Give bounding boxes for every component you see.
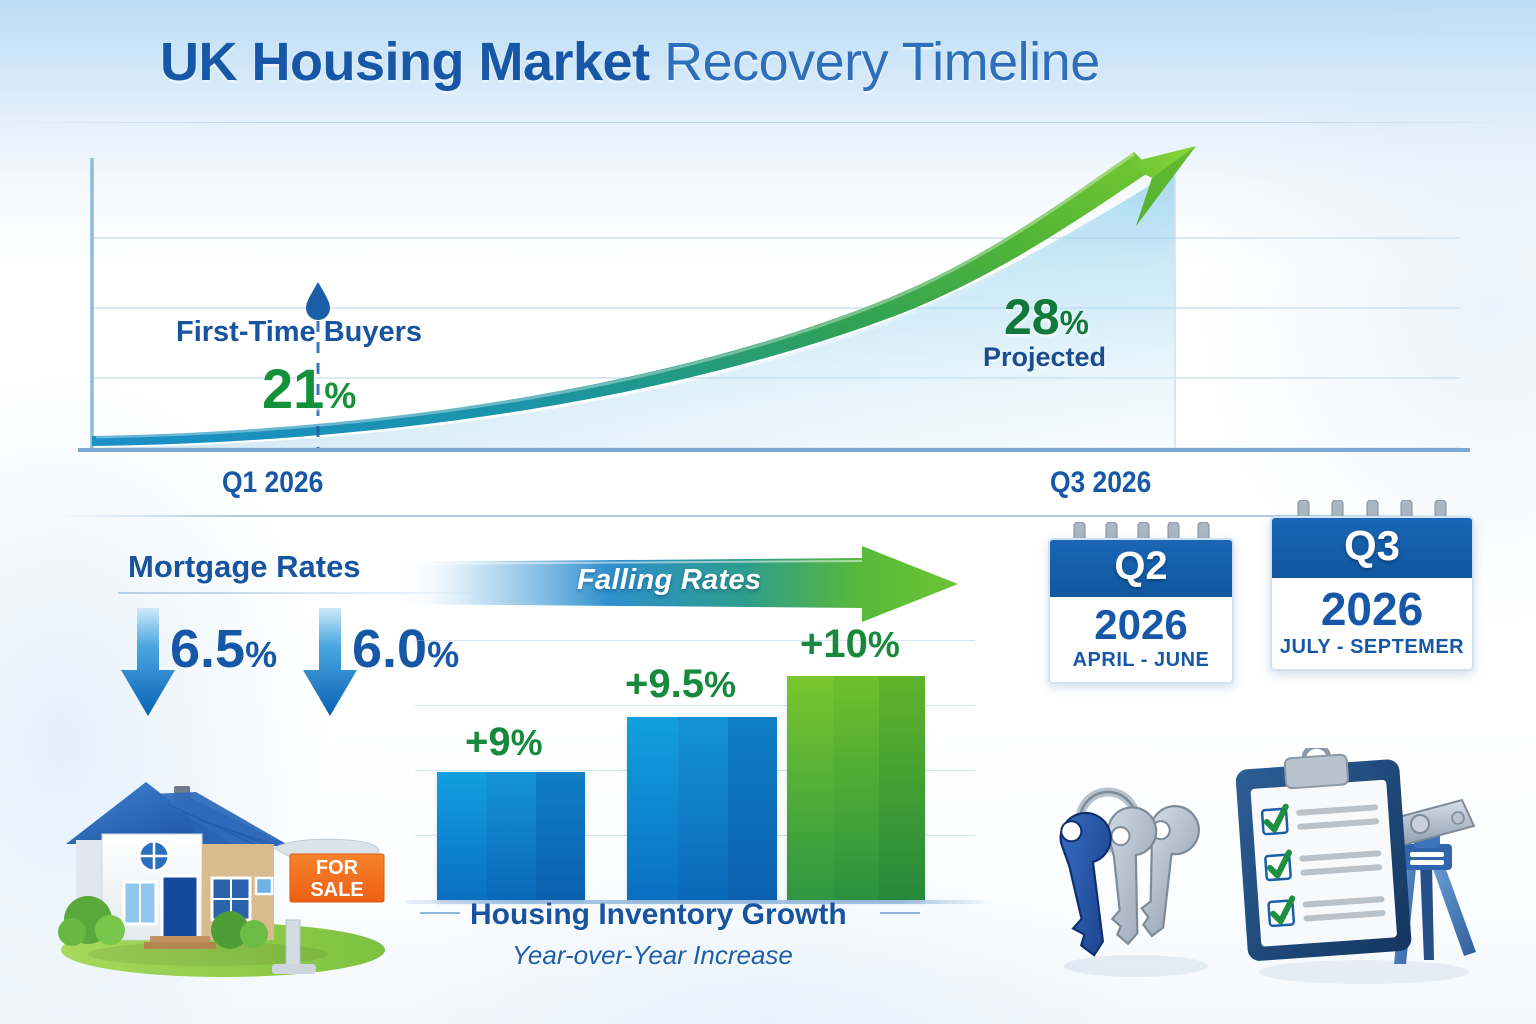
header-divider [0, 122, 1536, 123]
calendar-card-q3: Q3 2026 JULY - SEPTEMER [1270, 516, 1474, 671]
bar-segment [834, 676, 880, 900]
bar-pct-2: % [704, 664, 736, 705]
bar-segment [627, 717, 678, 900]
inventory-title: Housing Inventory Growth [470, 898, 847, 932]
bar-inventory-3 [787, 676, 925, 900]
down-arrow-icon [120, 608, 176, 718]
page-title-bold: UK Housing Market [160, 32, 650, 92]
bar-pct-3: % [868, 624, 900, 665]
house-keys-illustration [1036, 768, 1236, 983]
bar-value-2: +9.5 [625, 662, 704, 706]
mortgage-rate-value-1: 6.5% [170, 618, 277, 680]
calendar-months-q2: APRIL - JUNE [1050, 649, 1232, 682]
infographic-canvas: UK Housing Market Recovery Timeline [0, 0, 1536, 1024]
mortgage-rates-title: Mortgage Rates [128, 549, 361, 585]
calendar-year-q3: 2026 [1272, 582, 1472, 636]
clipboard-clip [1284, 754, 1348, 788]
q1-marker-droplet [306, 282, 330, 320]
rate-number-1: 6.5 [170, 619, 245, 679]
sign-topper [274, 839, 379, 856]
calendar-body-q3: Q3 2026 JULY - SEPTEMER [1270, 516, 1474, 671]
projected-value: 28% [1004, 288, 1089, 346]
recovery-timeline-chart: First-Time Buyers 21% 28% Projected [0, 130, 1536, 510]
for-sale-line-2: SALE [310, 879, 363, 901]
down-arrow-icon [302, 608, 358, 718]
bar-inventory-2 [627, 717, 777, 900]
projected-caption: Projected [983, 342, 1106, 373]
projected-number: 28 [1004, 289, 1060, 345]
inventory-title-dash-left [420, 912, 460, 914]
calendar-card-q2: Q2 2026 APRIL - JUNE [1048, 538, 1234, 684]
axis-tick-q3: Q3 2026 [1050, 466, 1151, 500]
falling-rates-label: Falling Rates [577, 564, 761, 597]
bar-segment [678, 717, 728, 900]
calendar-year-q2: 2026 [1050, 601, 1232, 649]
calendar-quarter-q3: Q3 [1272, 518, 1472, 578]
bar-label-3: +10% [800, 622, 900, 667]
survey-clipboard-illustration [1234, 748, 1484, 988]
bar-pct-1: % [511, 722, 543, 763]
axis-tick-q1: Q1 2026 [222, 466, 323, 500]
bar-segment [487, 772, 536, 900]
ftb-percent-sign: % [324, 375, 356, 416]
house-for-sale-illustration: FOR SALE [58, 778, 398, 988]
inventory-subtitle: Year-over-Year Increase [512, 940, 793, 971]
bar-label-1: +9% [465, 720, 543, 765]
bar-inventory-1 [437, 772, 585, 900]
bar-segment [536, 772, 585, 900]
bar-label-2: +9.5% [625, 662, 736, 707]
bar-value-3: +10 [800, 622, 868, 666]
for-sale-line-1: FOR [316, 857, 359, 879]
window-small [256, 878, 272, 894]
calendar-quarter-q2: Q2 [1050, 540, 1232, 597]
section-divider [60, 515, 1476, 517]
bar-segment [879, 676, 925, 900]
inventory-title-dash-right [880, 912, 920, 914]
first-time-buyers-label: First-Time Buyers [176, 316, 422, 349]
sign-post [286, 920, 300, 968]
bar-value-1: +9 [465, 720, 511, 764]
sign-base [272, 964, 316, 974]
first-time-buyers-value: 21% [262, 356, 356, 421]
inventory-bar-chart: +9% +9.5% +10% [415, 600, 975, 900]
calendar-months-q3: JULY - SEPTEMER [1272, 636, 1472, 669]
front-door [162, 876, 198, 938]
bar-segment [437, 772, 487, 900]
page-title-light: Recovery Timeline [664, 32, 1100, 92]
calendar-body-q2: Q2 2026 APRIL - JUNE [1048, 538, 1234, 684]
page-title: UK Housing Market Recovery Timeline [160, 34, 1100, 91]
projected-percent-sign: % [1060, 304, 1089, 341]
rate-percent-1: % [245, 634, 277, 675]
ftb-number: 21 [262, 357, 324, 420]
bar-segment [787, 676, 834, 900]
bar-segment [728, 717, 778, 900]
